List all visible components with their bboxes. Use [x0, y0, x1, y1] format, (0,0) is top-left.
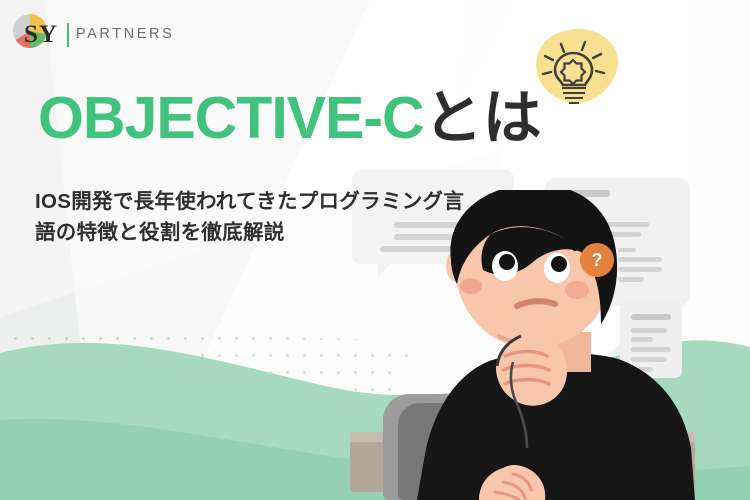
- lightbulb-icon: [531, 26, 627, 118]
- page-title-suffix: とは: [424, 85, 542, 151]
- page-subtitle: IOS開発で長年使われてきたプログラミング言語の特徴と役割を徹底解説: [35, 186, 465, 248]
- question-badge: ?: [580, 243, 614, 277]
- logo-secondary-text: PARTNERS: [76, 27, 174, 42]
- placeholder-line: [618, 267, 662, 272]
- logo-divider: [67, 23, 69, 47]
- placeholder-line: [618, 248, 636, 252]
- placeholder-line: [618, 257, 662, 262]
- brand-logo[interactable]: SY PARTNERS: [24, 22, 174, 47]
- logo-primary-text: SY: [24, 22, 58, 47]
- hero-banner: SY PARTNERS ? OBJECTIVE-Cとは IOS開発で長年使われて…: [0, 0, 750, 500]
- page-title-highlight: OBJECTIVE-C: [38, 85, 424, 151]
- page-title: OBJECTIVE-Cとは: [38, 89, 542, 148]
- placeholder-line: [618, 277, 644, 282]
